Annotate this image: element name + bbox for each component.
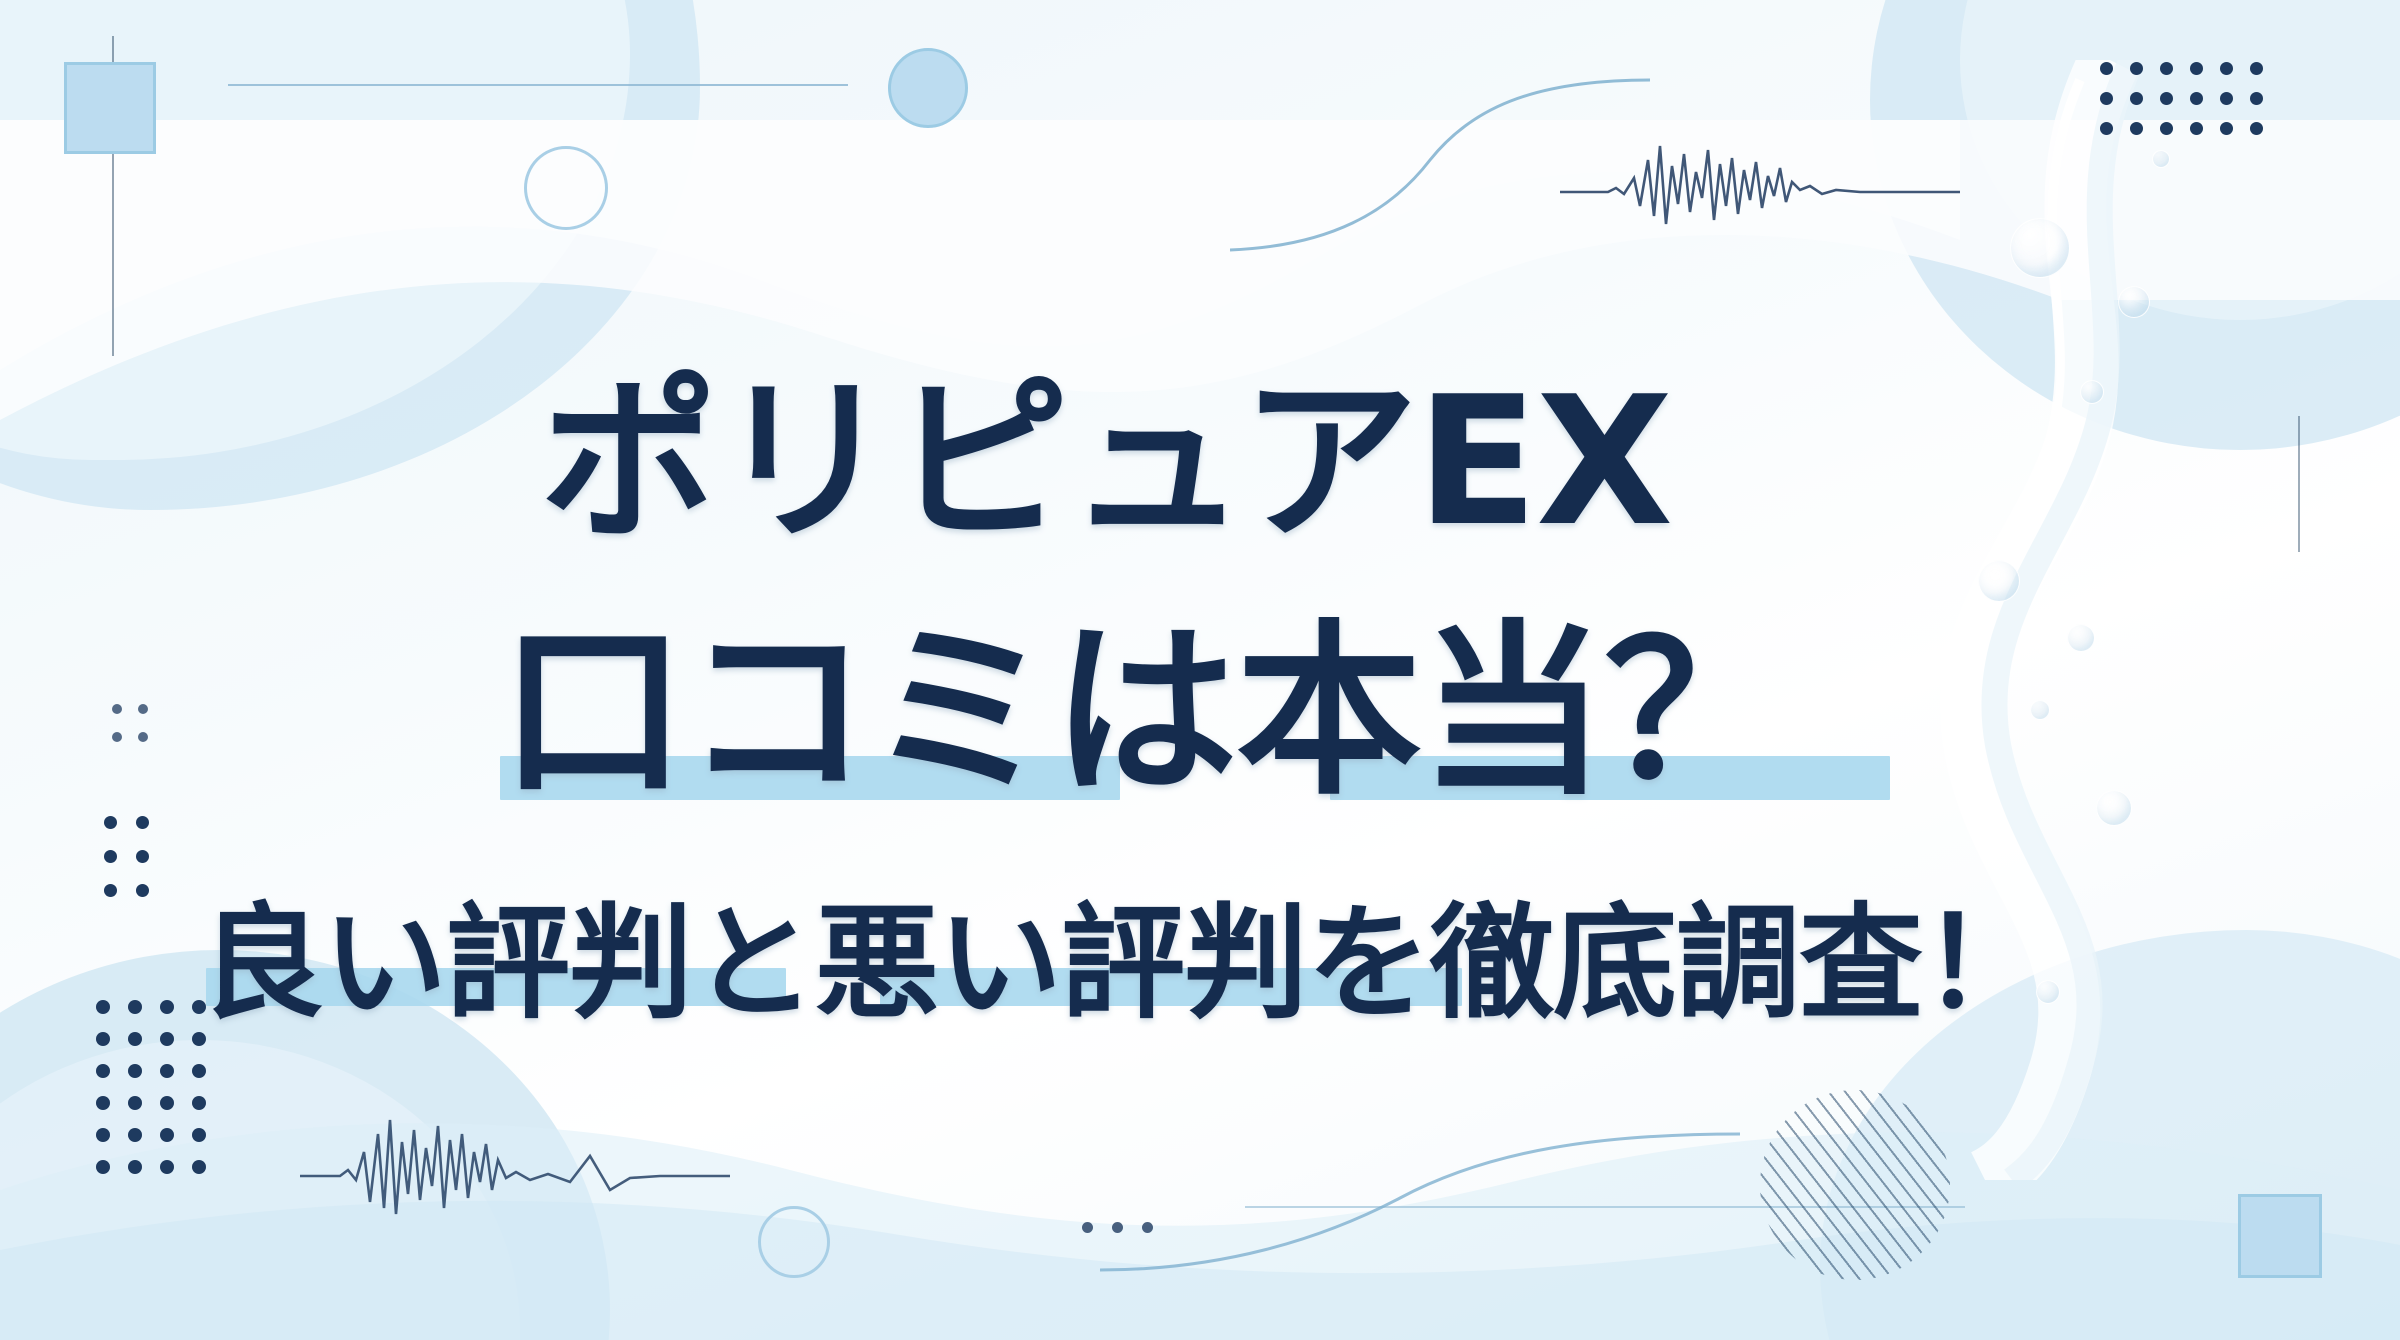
thumbnail-canvas: ポリピュアEX 口コミは本当？ 良い評判と悪い評判を徹底調査！ [0, 0, 2400, 1340]
headline-line-2: 口コミは本当？ [500, 560, 1788, 830]
headline-group: ポリピュアEX 口コミは本当？ 良い評判と悪い評判を徹底調査！ [0, 0, 2400, 1340]
headline-line-3: 良い評判と悪い評判を徹底調査！ [200, 862, 2045, 1042]
headline-line-1: ポリピュアEX [540, 318, 1671, 575]
